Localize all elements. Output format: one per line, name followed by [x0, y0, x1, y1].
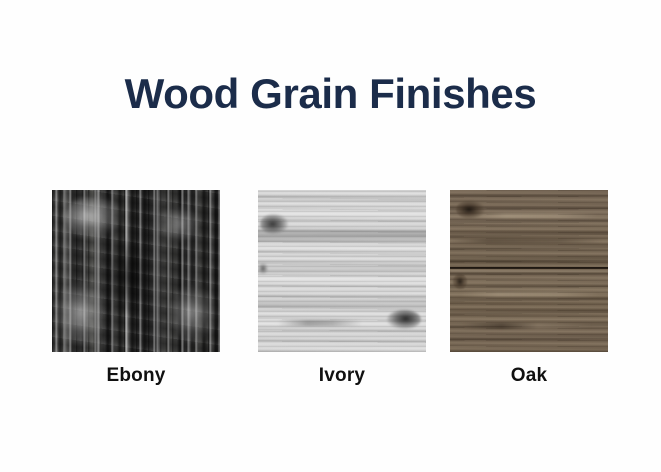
page-title: Wood Grain Finishes [0, 66, 661, 122]
oak-grain-line [459, 292, 598, 297]
oak-knot [453, 274, 467, 289]
swatch-label-oak: Oak [450, 365, 608, 387]
oak-grain-line [466, 213, 599, 218]
ebony-highlight-patch [65, 196, 122, 238]
ebony-highlight-patch [156, 206, 200, 242]
ivory-knot [260, 214, 289, 233]
wood-swatch-ivory-icon[interactable] [258, 190, 426, 352]
oak-plank-seam-highlight [450, 270, 608, 272]
swatch-label-ebony: Ebony [52, 365, 220, 387]
ebony-shadow-patch [109, 239, 146, 314]
oak-knot [456, 200, 484, 219]
swatch-item-ebony[interactable]: Ebony [52, 190, 220, 387]
ivory-grain-streak [278, 320, 362, 326]
swatch-gallery: Ebony Ivory [0, 190, 661, 390]
ebony-highlight-patch [170, 284, 217, 342]
ivory-grain-band [258, 266, 426, 274]
oak-plank-seam [450, 267, 608, 269]
wood-swatch-ebony-icon[interactable] [52, 190, 220, 352]
oak-grain-line [463, 323, 593, 329]
wood-swatch-oak-icon[interactable] [450, 190, 608, 352]
swatch-item-ivory[interactable]: Ivory [258, 190, 426, 387]
swatch-label-ivory: Ivory [258, 365, 426, 387]
ivory-grain-band [258, 300, 426, 306]
swatch-item-oak[interactable]: Oak [450, 190, 608, 387]
ebony-highlight-patch [55, 281, 105, 346]
slide-canvas: Wood Grain Finishes Ebony [0, 0, 661, 472]
ivory-knot [387, 310, 421, 329]
oak-grain-line [450, 239, 602, 244]
